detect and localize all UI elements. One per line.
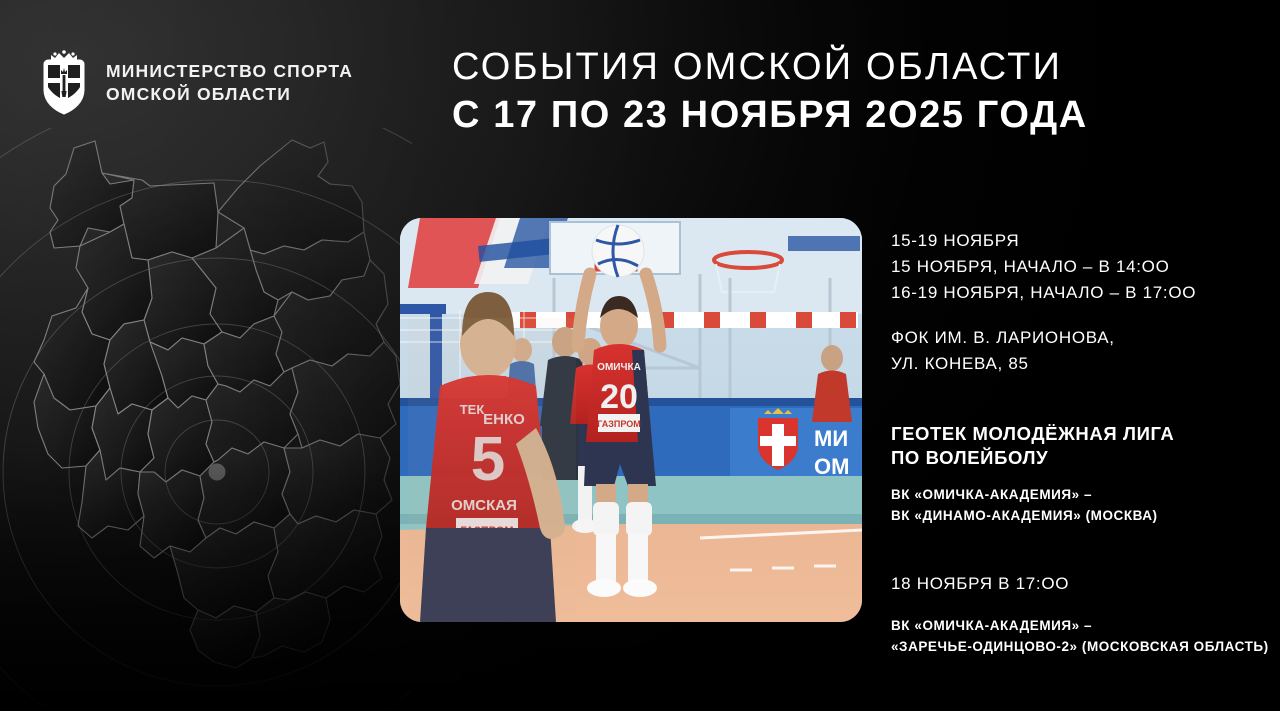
event-dates: 15-19 НОЯБРЯ 15 НОЯБРЯ, НАЧАЛО – В 14:ОО… <box>891 228 1269 305</box>
event-title: ГЕОТЕК МОЛОДЁЖНАЯ ЛИГА ПО ВОЛЕЙБОЛУ <box>891 422 1269 469</box>
ministry-logo-block: МИНИСТЕРСТВО СПОРТА ОМСКОЙ ОБЛАСТИ <box>38 50 353 116</box>
team-home-2: ВК «ОМИЧКА-АКАДЕМИЯ» – <box>891 616 1269 637</box>
venue-name: ФОК ИМ. В. ЛАРИОНОВА, <box>891 325 1269 351</box>
title-line-1: СОБЫТИЯ ОМСКОЙ ОБЛАСТИ <box>452 46 1088 89</box>
event-venue: ФОК ИМ. В. ЛАРИОНОВА, УЛ. КОНЕВА, 85 <box>891 325 1269 376</box>
event-title-line-2: ПО ВОЛЕЙБОЛУ <box>891 446 1269 470</box>
team-away-1: ВК «ДИНАМО-АКАДЕМИЯ» (МОСКВА) <box>891 506 1269 527</box>
second-match-date-text: 18 НОЯБРЯ В 17:ОО <box>891 571 1269 597</box>
ministry-name: МИНИСТЕРСТВО СПОРТА ОМСКОЙ ОБЛАСТИ <box>106 60 353 106</box>
ministry-line-1: МИНИСТЕРСТВО СПОРТА <box>106 60 353 83</box>
svg-text:ОМ: ОМ <box>814 454 849 479</box>
event-date-start-1: 15 НОЯБРЯ, НАЧАЛО – В 14:ОО <box>891 254 1269 280</box>
omsk-coat-of-arms-icon <box>38 50 90 116</box>
second-match-date: 18 НОЯБРЯ В 17:ОО <box>891 571 1269 597</box>
team-home-1: ВК «ОМИЧКА-АКАДЕМИЯ» – <box>891 485 1269 506</box>
event-title-line-1: ГЕОТЕК МОЛОДЁЖНАЯ ЛИГА <box>891 422 1269 446</box>
svg-text:МИ: МИ <box>814 426 848 451</box>
event-date-range: 15-19 НОЯБРЯ <box>891 228 1269 254</box>
title-line-2: С 17 ПО 23 НОЯБРЯ 2О25 ГОДА <box>452 93 1088 137</box>
page-title: СОБЫТИЯ ОМСКОЙ ОБЛАСТИ С 17 ПО 23 НОЯБРЯ… <box>452 46 1088 137</box>
match-teams-1: ВК «ОМИЧКА-АКАДЕМИЯ» – ВК «ДИНАМО-АКАДЕМ… <box>891 485 1269 527</box>
svg-text:ГАЗПРОМ: ГАЗПРОМ <box>597 419 641 429</box>
event-date-start-2: 16-19 НОЯБРЯ, НАЧАЛО – В 17:ОО <box>891 280 1269 306</box>
event-info-column: 15-19 НОЯБРЯ 15 НОЯБРЯ, НАЧАЛО – В 14:ОО… <box>891 228 1269 658</box>
ministry-line-2: ОМСКОЙ ОБЛАСТИ <box>106 83 353 106</box>
venue-address: УЛ. КОНЕВА, 85 <box>891 351 1269 377</box>
match-teams-2: ВК «ОМИЧКА-АКАДЕМИЯ» – «ЗАРЕЧЬЕ-ОДИНЦОВО… <box>891 616 1269 658</box>
poster-root: МИНИСТЕРСТВО СПОРТА ОМСКОЙ ОБЛАСТИ СОБЫТ… <box>0 0 1280 711</box>
volleyball-match-photo: МИ ОМ <box>400 218 862 622</box>
svg-text:ОМИЧКА: ОМИЧКА <box>597 362 641 373</box>
team-away-2: «ЗАРЕЧЬЕ-ОДИНЦОВО-2» (МОСКОВСКАЯ ОБЛАСТЬ… <box>891 637 1269 658</box>
svg-text:20: 20 <box>600 378 638 416</box>
